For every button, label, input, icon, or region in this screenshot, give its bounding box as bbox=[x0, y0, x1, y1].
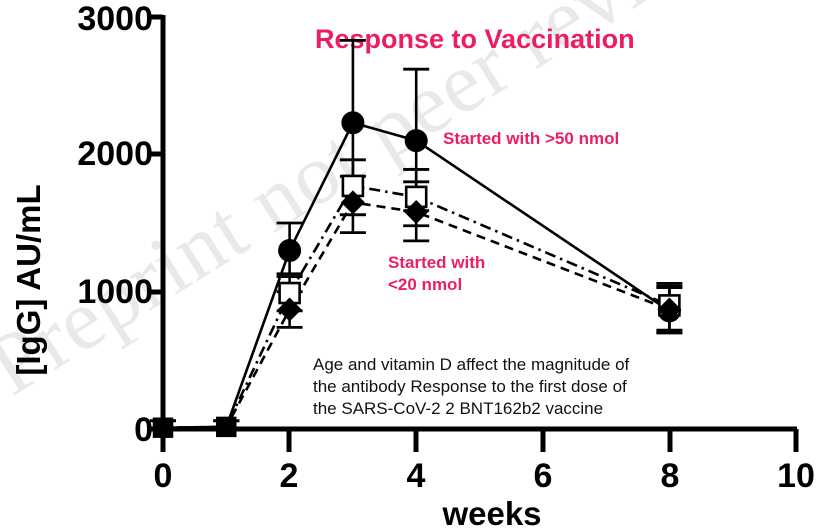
x-tick-label-2: 2 bbox=[280, 457, 299, 495]
annotation-low-group-line1: Started with bbox=[388, 253, 485, 272]
y-tick-label-2000: 2000 bbox=[77, 135, 153, 173]
data-point-s2-x0 bbox=[154, 419, 172, 437]
data-point-s0-x4 bbox=[405, 130, 427, 152]
x-tick-label-10: 10 bbox=[777, 457, 815, 495]
annotation-high-group: Started with >50 nmol bbox=[443, 129, 619, 148]
chart-canvas: Preprint not peer reviewed 3000 2000 100… bbox=[0, 0, 824, 529]
annotation-low-group-line2: <20 nmol bbox=[388, 275, 462, 294]
x-tick-label-0: 0 bbox=[154, 457, 173, 495]
caption-line-1: Age and vitamin D affect the magnitude o… bbox=[313, 355, 630, 374]
chart-svg: 3000 2000 1000 0 0 2 4 6 8 10 weeks [IgG… bbox=[0, 0, 824, 529]
x-tick-label-4: 4 bbox=[407, 457, 426, 495]
caption-line-3: the SARS-CoV-2 2 BNT162b2 vaccine bbox=[313, 399, 603, 418]
x-axis-title: weeks bbox=[441, 495, 541, 529]
y-tick-label-1000: 1000 bbox=[77, 273, 153, 311]
x-tick-label-8: 8 bbox=[661, 457, 680, 495]
data-point-s0-x3 bbox=[342, 112, 364, 134]
data-point-s2-x1 bbox=[217, 418, 235, 436]
x-tick-label-6: 6 bbox=[534, 457, 553, 495]
y-axis-title: [IgG] AU/mL bbox=[10, 184, 47, 375]
data-point-s0-x2 bbox=[279, 239, 301, 261]
caption-line-2: the antibody Response to the first dose … bbox=[313, 377, 627, 396]
y-tick-label-3000: 3000 bbox=[77, 0, 153, 38]
